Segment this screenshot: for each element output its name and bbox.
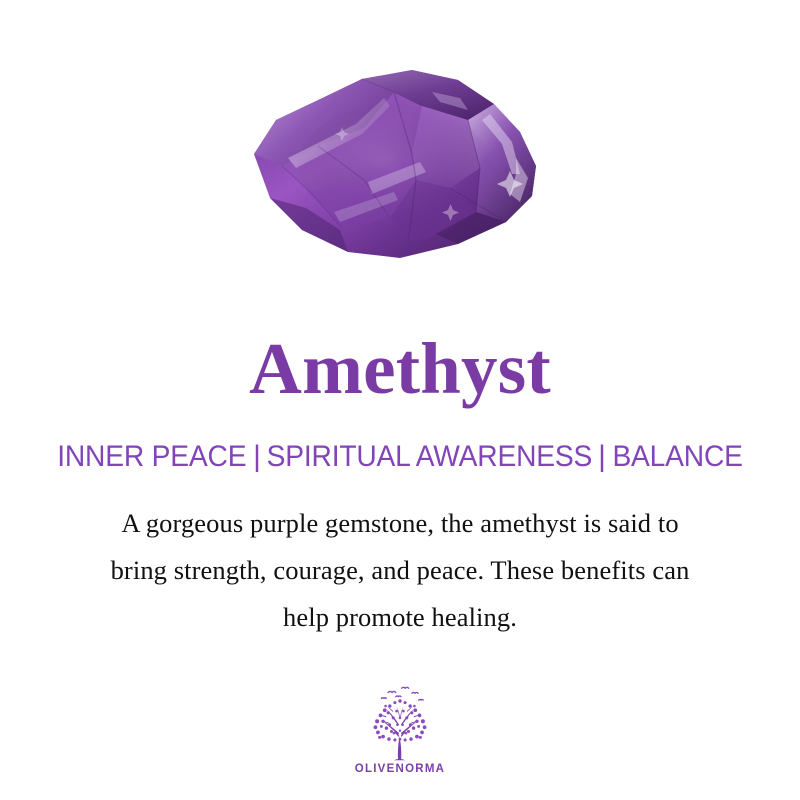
page-title: Amethyst	[0, 332, 800, 405]
description-line: bring strength, courage, and peace. Thes…	[50, 547, 750, 594]
amethyst-image	[244, 62, 556, 270]
keyword-separator: |	[246, 441, 268, 473]
raw-amethyst-crystal-icon	[244, 62, 556, 270]
keyword-spiritual-awareness: SPIRITUAL AWARENESS	[267, 440, 593, 473]
description-line: help promote healing.	[50, 594, 750, 641]
keyword-separator: |	[592, 441, 614, 473]
brand-logo: OLIVENORMA	[0, 684, 800, 776]
amethyst-info-card: Amethyst INNER PEACE|SPIRITUAL AWARENESS…	[0, 0, 800, 800]
description-line: A gorgeous purple gemstone, the amethyst…	[50, 500, 750, 547]
keyword-list: INNER PEACE|SPIRITUAL AWARENESS|BALANCE	[24, 441, 776, 473]
keyword-inner-peace: INNER PEACE	[57, 440, 246, 473]
tree-of-life-icon	[357, 684, 443, 762]
keyword-balance: BALANCE	[612, 440, 742, 473]
gemstone-hero	[0, 0, 800, 318]
brand-name: OLIVENORMA	[355, 764, 445, 776]
description-text: A gorgeous purple gemstone, the amethyst…	[50, 500, 750, 641]
